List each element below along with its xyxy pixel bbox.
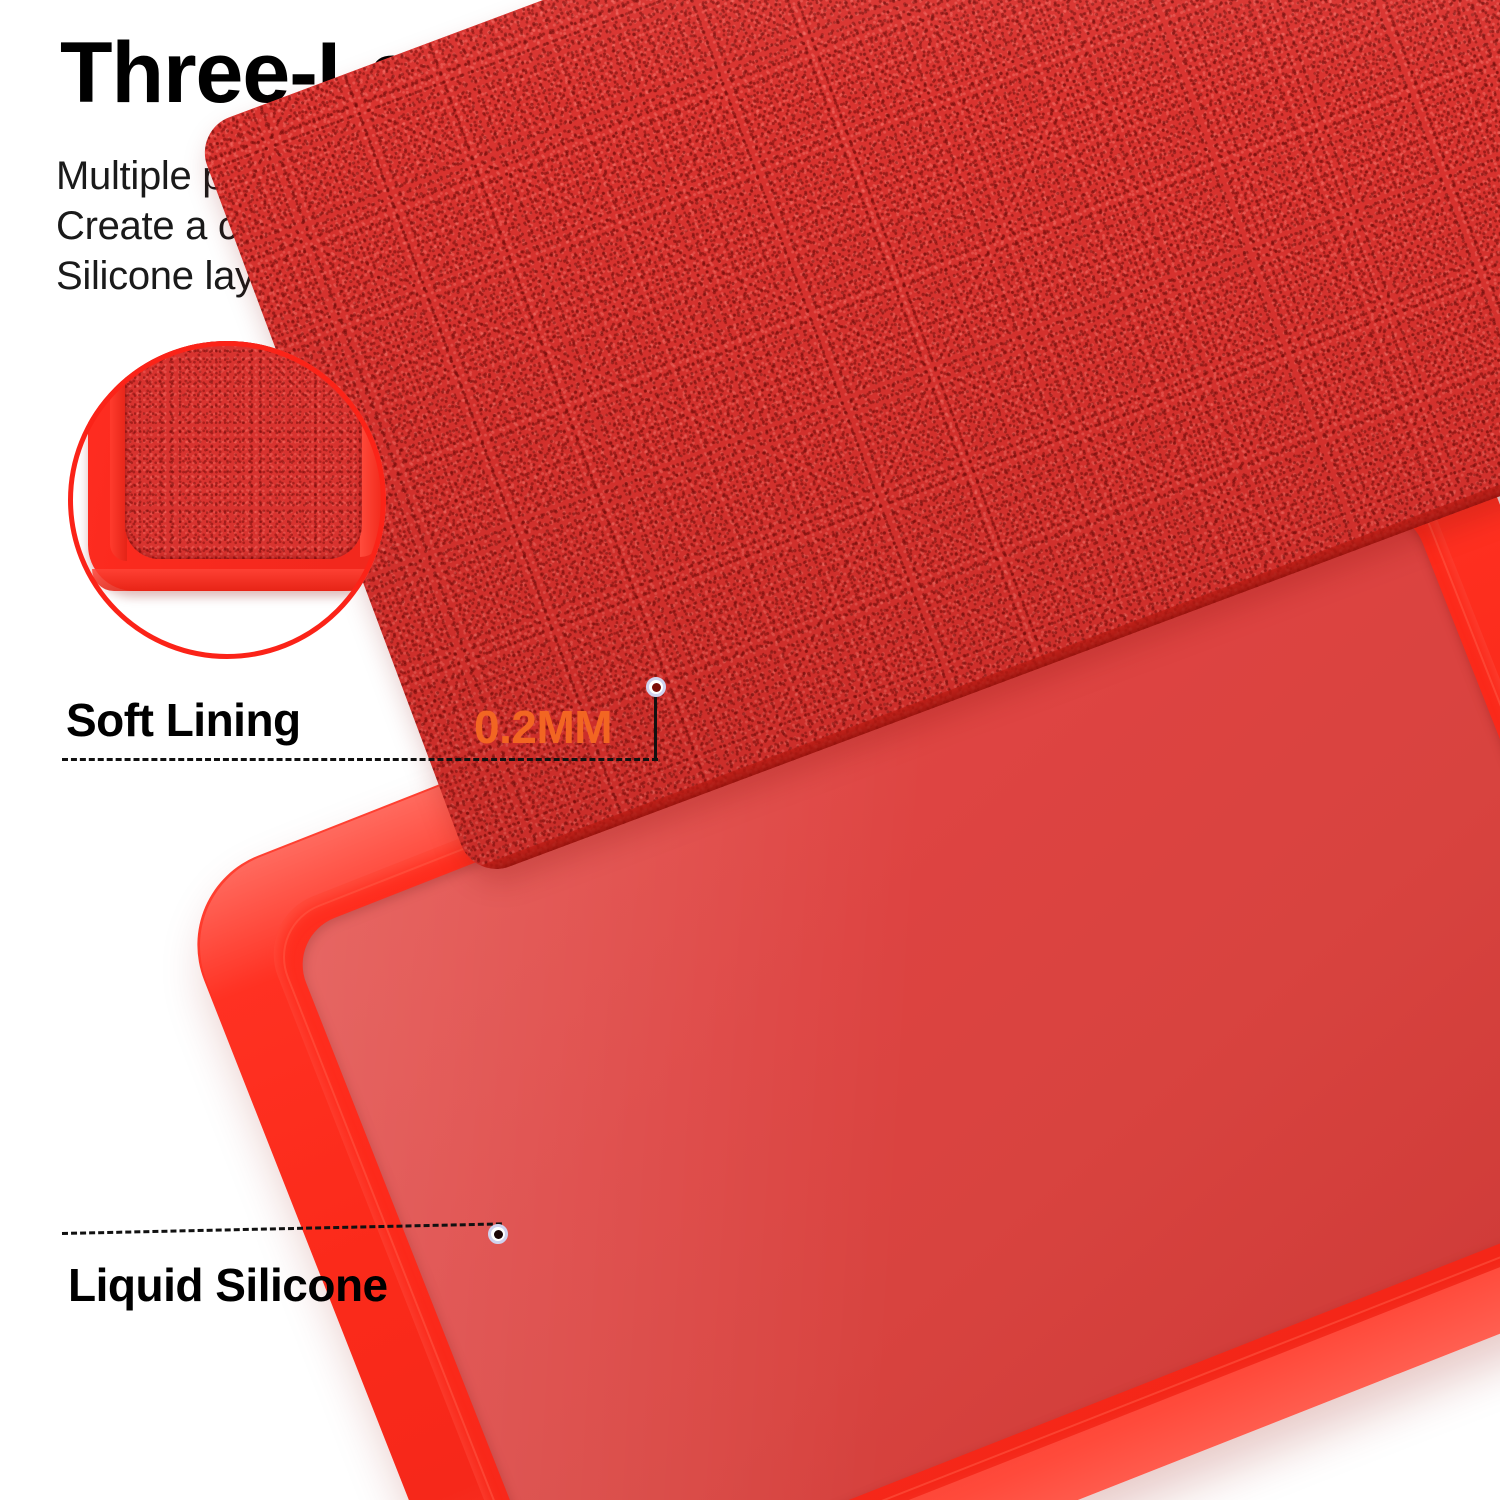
inset-fluff-surface bbox=[125, 341, 362, 559]
thickness-value-label: 0.2MM bbox=[474, 700, 612, 754]
inset-case-corner bbox=[88, 341, 386, 591]
liquid-silicone-label: Liquid Silicone bbox=[68, 1258, 388, 1312]
detail-inset-clip bbox=[68, 341, 386, 659]
soft-lining-label: Soft Lining bbox=[66, 693, 301, 747]
inset-right-wall bbox=[360, 341, 382, 557]
detail-zoom-inset bbox=[68, 341, 386, 659]
lining-leader-dashed bbox=[62, 758, 658, 761]
infographic-page: Three-Layer Structure Multiple process C… bbox=[0, 0, 1500, 1500]
callout-dot-icon-silicone bbox=[488, 1224, 508, 1244]
lining-leader-vertical bbox=[654, 694, 657, 760]
callout-dot-icon-lining bbox=[646, 677, 666, 697]
